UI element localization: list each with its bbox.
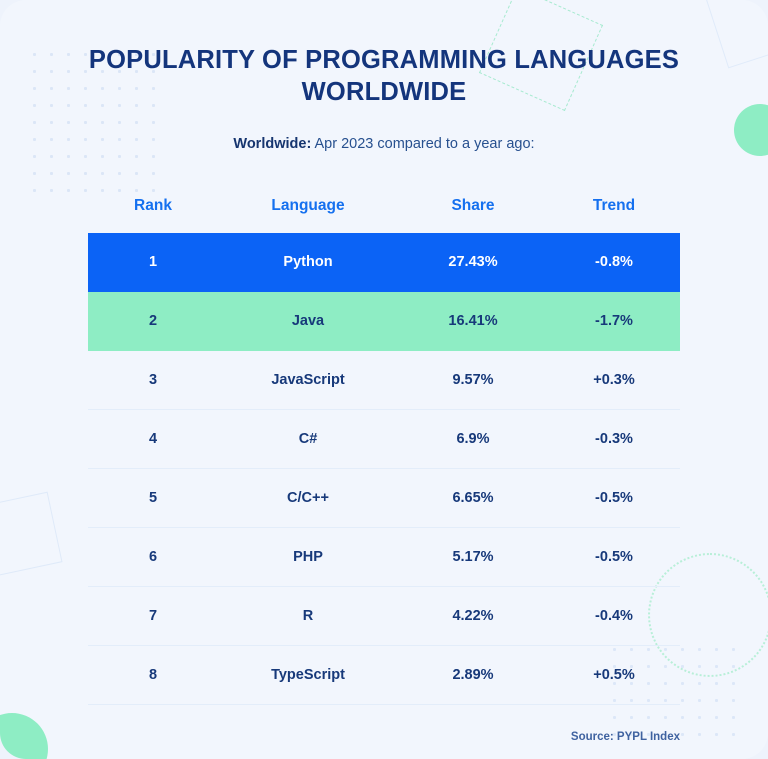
cell-rank: 4 [88,409,218,468]
table-row: 1 Python 27.43% -0.8% [88,233,680,292]
table-row: 7 R 4.22% -0.4% [88,586,680,645]
language-ranking-table: Rank Language Share Trend 1 Python 27.43… [88,189,680,705]
source-credit: Source: PYPL Index [44,731,680,743]
cell-trend: -0.5% [548,527,680,586]
cell-share: 6.9% [398,409,548,468]
cell-language: PHP [218,527,398,586]
subtitle-lead: Worldwide: [233,136,311,152]
cell-rank: 3 [88,350,218,409]
cell-language: C/C++ [218,468,398,527]
cell-trend: +0.3% [548,350,680,409]
cell-trend: -0.5% [548,468,680,527]
infographic-poster: POPULARITY OF PROGRAMMING LANGUAGES WORL… [0,0,768,759]
cell-rank: 7 [88,586,218,645]
cell-rank: 6 [88,527,218,586]
cell-language: TypeScript [218,645,398,704]
cell-language: JavaScript [218,350,398,409]
cell-rank: 1 [88,233,218,292]
table-body: 1 Python 27.43% -0.8% 2 Java 16.41% -1.7… [88,233,680,705]
cell-language: C# [218,409,398,468]
cell-trend: -1.7% [548,291,680,350]
cell-trend: -0.8% [548,233,680,292]
cell-share: 2.89% [398,645,548,704]
cell-share: 27.43% [398,233,548,292]
column-header-trend: Trend [548,189,680,233]
table-row: 2 Java 16.41% -1.7% [88,291,680,350]
page-title: POPULARITY OF PROGRAMMING LANGUAGES WORL… [44,0,724,108]
cell-rank: 2 [88,291,218,350]
cell-rank: 5 [88,468,218,527]
cell-language: Java [218,291,398,350]
cell-share: 6.65% [398,468,548,527]
subtitle: Worldwide: Apr 2023 compared to a year a… [44,134,724,154]
cell-language: R [218,586,398,645]
cell-share: 9.57% [398,350,548,409]
cell-trend: +0.5% [548,645,680,704]
column-header-language: Language [218,189,398,233]
cell-language: Python [218,233,398,292]
cell-share: 5.17% [398,527,548,586]
table-row: 8 TypeScript 2.89% +0.5% [88,645,680,704]
cell-rank: 8 [88,645,218,704]
cell-share: 16.41% [398,291,548,350]
table-row: 3 JavaScript 9.57% +0.3% [88,350,680,409]
table-header-row: Rank Language Share Trend [88,189,680,233]
table-row: 5 C/C++ 6.65% -0.5% [88,468,680,527]
cell-trend: -0.3% [548,409,680,468]
column-header-rank: Rank [88,189,218,233]
table-row: 6 PHP 5.17% -0.5% [88,527,680,586]
cell-trend: -0.4% [548,586,680,645]
cell-share: 4.22% [398,586,548,645]
subtitle-rest: Apr 2023 compared to a year ago: [311,136,534,152]
table-row: 4 C# 6.9% -0.3% [88,409,680,468]
poster-content: POPULARITY OF PROGRAMMING LANGUAGES WORL… [0,0,768,743]
column-header-share: Share [398,189,548,233]
